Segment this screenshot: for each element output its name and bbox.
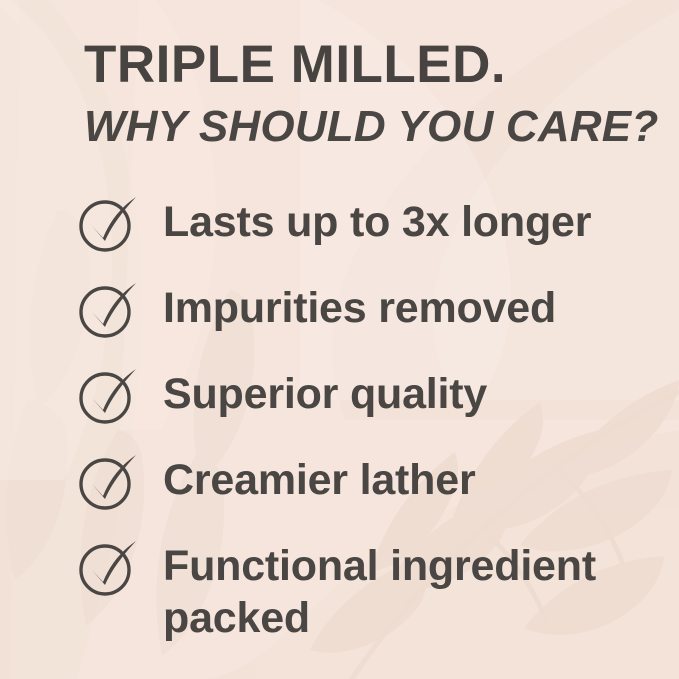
- benefits-list: Lasts up to 3x longer Impurities removed…: [76, 191, 636, 644]
- list-item: Functional ingredient packed: [76, 535, 636, 644]
- check-circle-icon: [76, 191, 140, 255]
- list-item: Superior quality: [76, 363, 636, 449]
- list-item-label: Superior quality: [163, 363, 636, 420]
- list-item: Creamier lather: [76, 449, 636, 535]
- poster-content: TRIPLE MILLED. WHY SHOULD YOU CARE? Last…: [0, 0, 679, 679]
- check-circle-icon: [76, 277, 140, 341]
- list-item-label: Creamier lather: [163, 449, 636, 506]
- list-item: Lasts up to 3x longer: [76, 191, 636, 277]
- list-item-label: Impurities removed: [163, 277, 636, 334]
- check-circle-icon: [76, 449, 140, 513]
- list-item-label: Functional ingredient packed: [163, 535, 636, 644]
- check-circle-icon: [76, 363, 140, 427]
- product-benefits-poster: TRIPLE MILLED. WHY SHOULD YOU CARE? Last…: [0, 0, 679, 679]
- headline-block: TRIPLE MILLED. WHY SHOULD YOU CARE?: [84, 36, 658, 152]
- page-subtitle: WHY SHOULD YOU CARE?: [84, 94, 658, 152]
- check-circle-icon: [76, 535, 140, 599]
- page-title: TRIPLE MILLED.: [84, 36, 658, 94]
- list-item: Impurities removed: [76, 277, 636, 363]
- list-item-label: Lasts up to 3x longer: [163, 191, 636, 248]
